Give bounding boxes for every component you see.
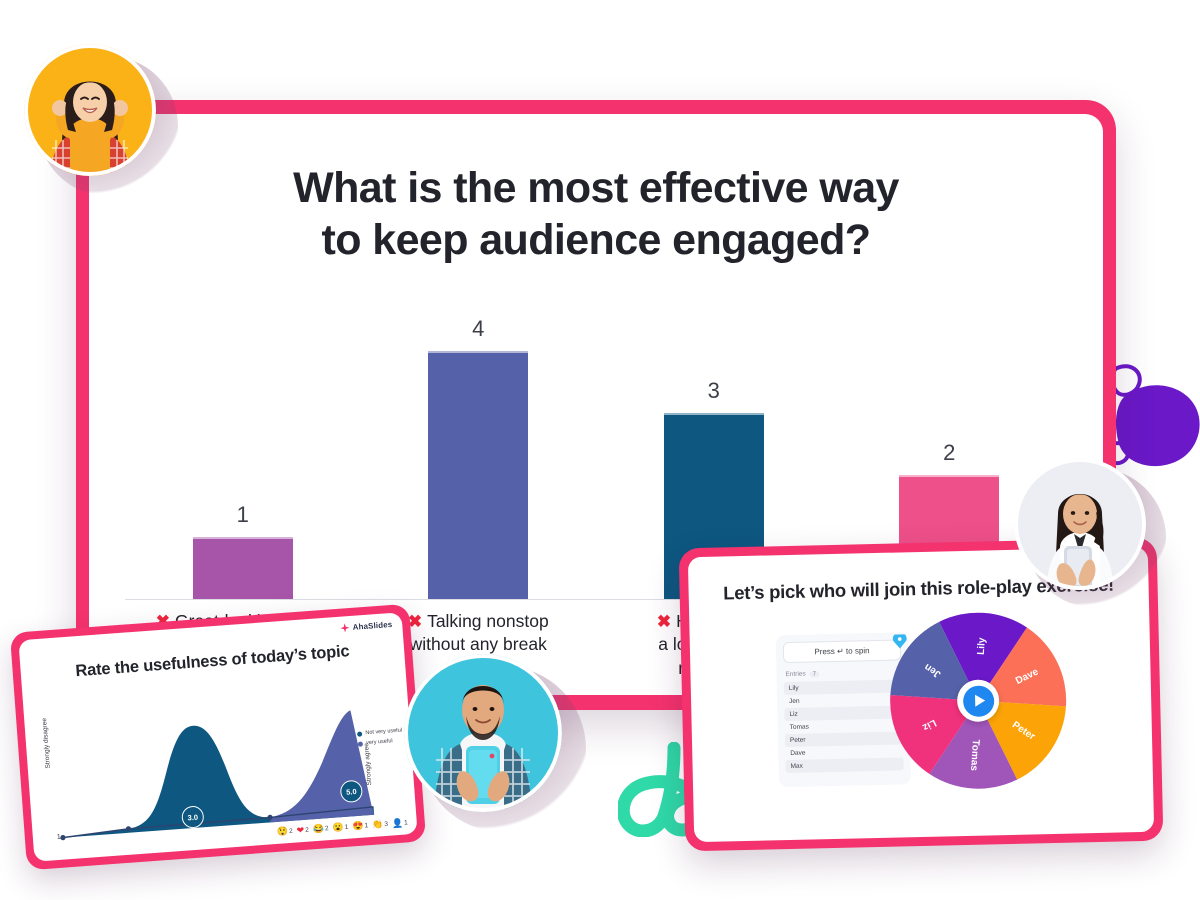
avatar-photo	[404, 654, 562, 812]
reaction-count: 1	[404, 819, 408, 826]
wheel-segment-label: Lily	[976, 637, 988, 655]
entries-list[interactable]: LilyJenLizTomasPeterDaveMax	[784, 679, 904, 773]
axis-min-label: 1	[57, 834, 61, 841]
reaction-icon[interactable]: 😲	[277, 827, 289, 837]
bar-rect	[428, 351, 528, 599]
spin-button[interactable]: Press ↵ to spin	[783, 639, 901, 663]
page-title: What is the most effective wayto keep au…	[89, 162, 1103, 267]
reaction-count: 2	[305, 827, 309, 834]
rating-slide-canvas: AhaSlides Rate the usefulness of today’s…	[18, 612, 417, 862]
ahaslides-logo: AhaSlides	[340, 620, 392, 633]
reaction-item[interactable]: ❤2	[296, 826, 309, 836]
reaction-icon[interactable]: ❤	[296, 826, 304, 836]
reaction-icon[interactable]: 👏	[372, 820, 384, 830]
reaction-icon[interactable]: 😮	[332, 823, 344, 833]
reaction-item[interactable]: 😲2	[277, 827, 293, 837]
reaction-count: 2	[325, 825, 329, 832]
legend-swatch	[357, 731, 362, 736]
legend-label: Not very useful	[365, 728, 402, 737]
entry-row[interactable]: Max	[785, 757, 903, 773]
reaction-icon[interactable]: 😍	[352, 822, 364, 832]
avatar-photo	[24, 44, 156, 176]
play-icon[interactable]	[962, 685, 994, 717]
avatar-man-with-phone	[404, 654, 562, 812]
wheel-segment-label: Tomas	[968, 739, 981, 772]
reaction-item[interactable]: 😮1	[332, 823, 348, 833]
reaction-count: 3	[384, 821, 388, 828]
rating-title: Rate the usefulness of today’s topic	[20, 638, 404, 685]
avatar-photo	[1014, 458, 1146, 590]
spinner-wheel[interactable]: LilyDavePeterTomasLizJen	[887, 610, 1069, 792]
entries-count-badge: 7	[810, 671, 819, 677]
bar-column: 4	[361, 314, 597, 599]
cross-icon: ✖	[657, 612, 671, 631]
reaction-item[interactable]: 👤1	[392, 818, 408, 828]
ahaslides-mark-icon	[340, 623, 350, 633]
ahaslides-logo-text: AhaSlides	[352, 620, 392, 632]
legend-item: very useful	[358, 737, 403, 746]
reaction-item[interactable]: 👏3	[372, 820, 388, 830]
reaction-count: 1	[364, 822, 368, 829]
avatar-woman-with-phone	[1014, 458, 1146, 590]
reaction-icon[interactable]: 😂	[313, 824, 325, 834]
reaction-count: 1	[345, 824, 349, 831]
reaction-icon[interactable]: 👤	[392, 819, 404, 829]
entries-label: Entries	[785, 671, 805, 678]
legend-label: very useful	[366, 738, 393, 746]
avatar-cheering-woman	[24, 44, 156, 176]
bar-rect	[193, 537, 293, 599]
rating-legend: Not very usefulvery useful	[357, 728, 403, 747]
bar-value-label: 1	[237, 502, 249, 528]
bar-value-label: 4	[472, 316, 484, 342]
reaction-count: 2	[289, 828, 293, 835]
rating-area-chart	[50, 693, 378, 842]
bar-value-label: 3	[708, 378, 720, 404]
rating-slide-card: AhaSlides Rate the usefulness of today’s…	[10, 604, 426, 871]
reaction-item[interactable]: 😍1	[352, 821, 368, 831]
reaction-item[interactable]: 😂2	[313, 824, 329, 834]
entries-header: Entries 7	[785, 668, 901, 678]
bar-column: 1	[125, 314, 361, 599]
bar-value-label: 2	[943, 440, 955, 466]
legend-swatch	[358, 741, 363, 746]
screenshot-stage: What is the most effective wayto keep au…	[0, 0, 1200, 900]
